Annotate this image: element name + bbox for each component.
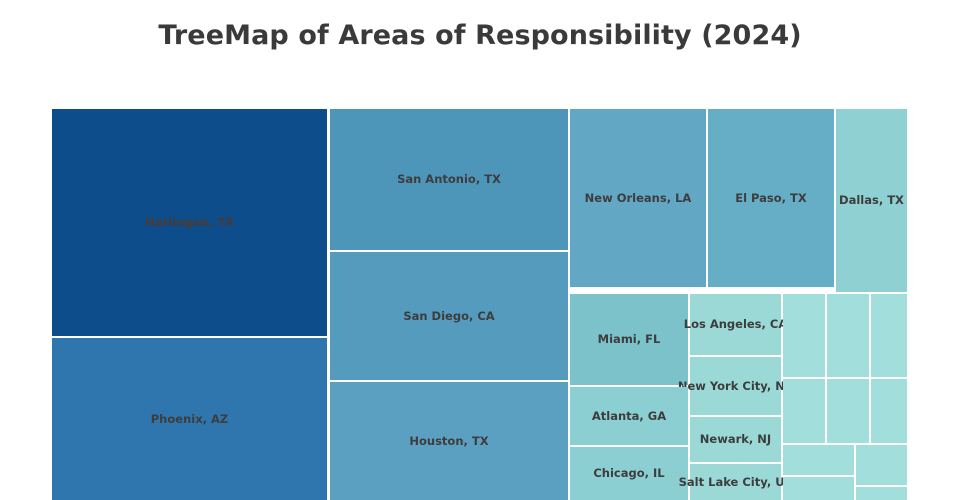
treemap-tile-el-paso-tx[interactable]: El Paso, TX [708, 109, 834, 287]
treemap-tile-label: Atlanta, GA [592, 410, 666, 423]
treemap-tile-new-york-city-ny[interactable]: New York City, NY [690, 357, 781, 415]
treemap-tile-miami-fl[interactable]: Miami, FL [570, 294, 688, 385]
treemap-tile-newark-nj[interactable]: Newark, NJ [690, 417, 781, 462]
treemap-tile-harlingen-tx[interactable]: Harlingen, TX [52, 109, 327, 336]
treemap-tile-label: Dallas, TX [839, 194, 904, 207]
treemap-tile-san-diego-ca[interactable]: San Diego, CA [330, 252, 568, 380]
treemap-tile-salt-lake-city-ut[interactable]: Salt Lake City, UT [690, 464, 781, 500]
treemap-tile-label: San Diego, CA [403, 310, 494, 323]
treemap-tile-new-orleans-la[interactable]: New Orleans, LA [570, 109, 706, 287]
treemap-tile-label: Salt Lake City, UT [679, 476, 793, 489]
treemap-tile-unlabeled-24[interactable] [856, 487, 907, 500]
treemap-tile-san-antonio-tx[interactable]: San Antonio, TX [330, 109, 568, 250]
treemap-tile-unlabeled-23[interactable] [783, 477, 854, 500]
treemap-tile-unlabeled-18[interactable] [783, 379, 825, 443]
treemap-tile-label: Phoenix, AZ [151, 413, 228, 426]
treemap-tile-chicago-il[interactable]: Chicago, IL [570, 447, 688, 500]
treemap-tile-dallas-tx[interactable]: Dallas, TX [836, 109, 907, 292]
treemap-tile-unlabeled-15[interactable] [783, 294, 825, 377]
treemap-tile-label: San Antonio, TX [397, 173, 501, 186]
treemap-tile-label: New York City, NY [678, 380, 793, 393]
treemap-tile-unlabeled-22[interactable] [856, 445, 907, 485]
treemap-tile-unlabeled-19[interactable] [827, 379, 869, 443]
treemap-tile-unlabeled-17[interactable] [871, 294, 907, 377]
treemap-tile-phoenix-az[interactable]: Phoenix, AZ [52, 338, 327, 500]
treemap-tile-label: New Orleans, LA [585, 192, 692, 205]
treemap-tile-houston-tx[interactable]: Houston, TX [330, 382, 568, 500]
treemap-chart: TreeMap of Areas of Responsibility (2024… [0, 0, 960, 500]
treemap-plot-area: Harlingen, TXPhoenix, AZSan Antonio, TXS… [0, 0, 960, 500]
treemap-tile-label: Harlingen, TX [145, 216, 233, 229]
treemap-tile-unlabeled-20[interactable] [871, 379, 907, 443]
treemap-tile-atlanta-ga[interactable]: Atlanta, GA [570, 387, 688, 445]
treemap-tile-label: Newark, NJ [700, 433, 771, 446]
treemap-tile-label: El Paso, TX [735, 192, 807, 205]
treemap-tile-label: Houston, TX [409, 435, 488, 448]
treemap-tile-label: Los Angeles, CA [684, 318, 788, 331]
treemap-tile-unlabeled-16[interactable] [827, 294, 869, 377]
treemap-tile-los-angeles-ca[interactable]: Los Angeles, CA [690, 294, 781, 355]
treemap-tile-unlabeled-21[interactable] [783, 445, 854, 475]
treemap-tile-label: Chicago, IL [593, 467, 664, 480]
treemap-tile-label: Miami, FL [598, 333, 661, 346]
